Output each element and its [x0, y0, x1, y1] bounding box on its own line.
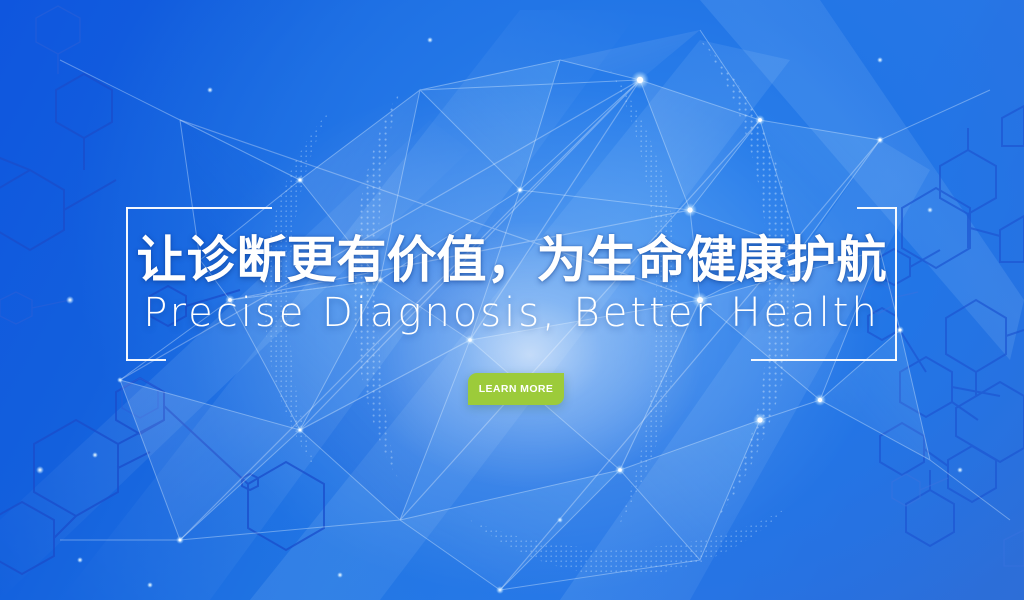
headline-chinese: 让诊断更有价值，为生命健康护航 [137, 233, 887, 287]
hero-banner: 让诊断更有价值，为生命健康护航 Precise Diagnosis, Bette… [0, 0, 1024, 600]
subheadline-english: Precise Diagnosis, Better Health [143, 291, 880, 335]
headline-block: 让诊断更有价值，为生命健康护航 Precise Diagnosis, Bette… [126, 207, 897, 361]
learn-more-button[interactable]: LEARN MORE [468, 373, 564, 405]
